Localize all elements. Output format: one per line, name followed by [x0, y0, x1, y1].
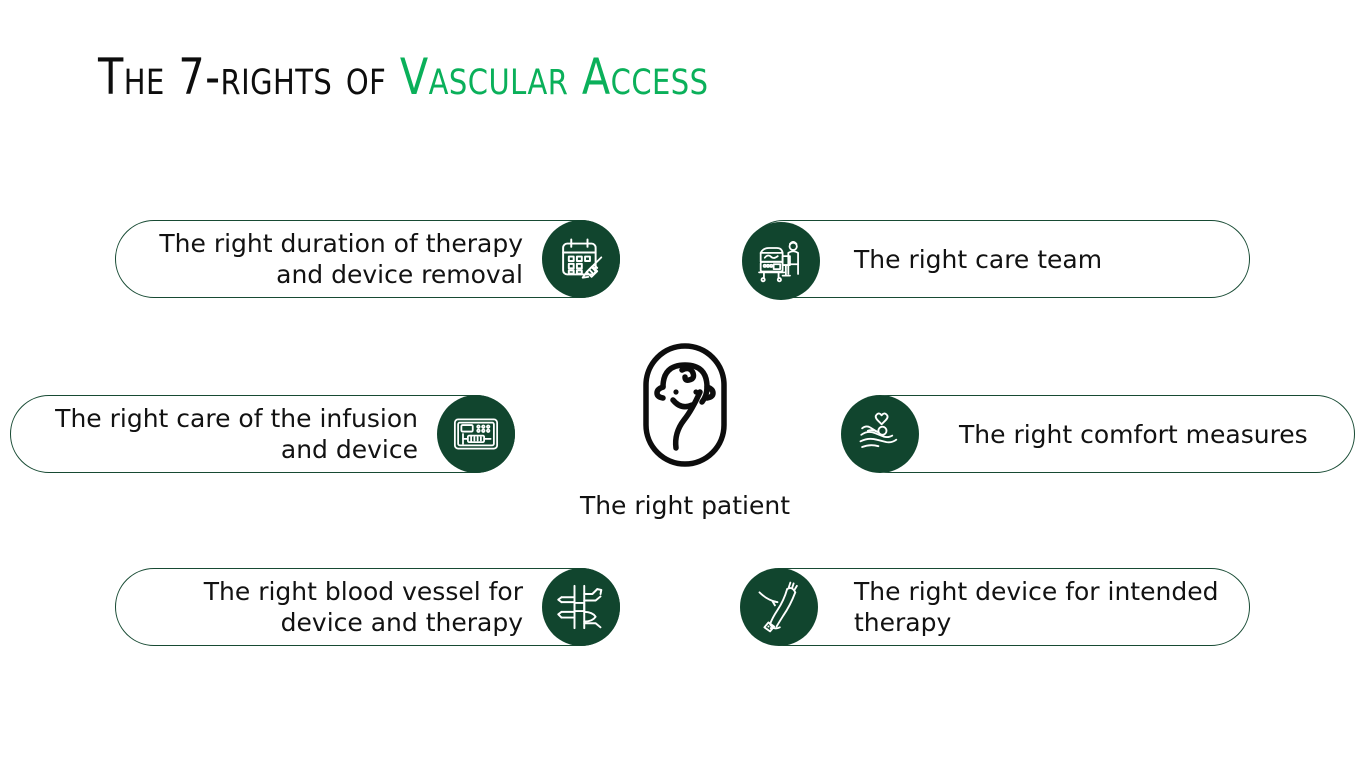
- arm-cannula-icon: [740, 568, 818, 646]
- card-device-label: The right device for intended therapy: [746, 576, 1249, 638]
- card-device[interactable]: The right device for intended therapy: [745, 568, 1250, 646]
- blood-vessel-icon: [542, 568, 620, 646]
- card-care-team[interactable]: The right care team: [745, 220, 1250, 298]
- calendar-syringe-icon: [542, 220, 620, 298]
- page-title-black-part: The 7-rights of: [98, 48, 400, 106]
- swaddled-baby-icon: [637, 340, 733, 470]
- card-comfort-label: The right comfort measures: [851, 419, 1354, 450]
- page-title-green-part: Vascular Access: [400, 48, 709, 106]
- page-title: The 7-rights of Vascular Access: [98, 52, 709, 102]
- card-care-team-label: The right care team: [746, 244, 1249, 275]
- infusion-pump-icon: [437, 395, 515, 473]
- center-patient-caption: The right patient: [560, 492, 810, 520]
- card-comfort[interactable]: The right comfort measures: [850, 395, 1355, 473]
- incubator-nurse-icon: [742, 222, 820, 300]
- center-patient: The right patient: [560, 340, 810, 520]
- baby-in-hands-heart-icon: [841, 395, 919, 473]
